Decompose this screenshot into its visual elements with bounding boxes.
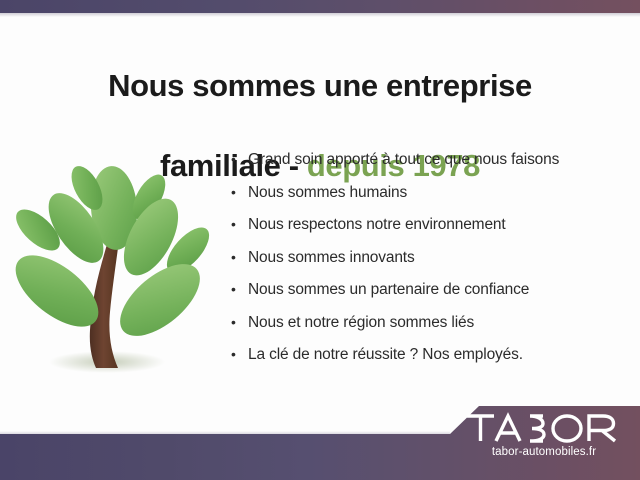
list-item: La clé de notre réussite ? Nos employés.	[228, 345, 628, 365]
top-accent-bar-shadow	[0, 13, 640, 17]
slide-canvas: Nous sommes une entreprise familiale - d…	[0, 0, 640, 480]
list-item: Grand soin apporté à tout ce que nous fa…	[228, 150, 628, 170]
letter-R	[589, 416, 615, 441]
list-item: Nous sommes un partenaire de confiance	[228, 280, 628, 300]
letter-O	[553, 416, 581, 441]
list-item: Nous et notre région sommes liés	[228, 313, 628, 333]
top-accent-bar	[0, 0, 640, 13]
letter-B-mirrored	[530, 416, 544, 441]
tabor-wordmark	[464, 412, 624, 444]
leaf-lower-right	[108, 251, 212, 349]
value-bullet-list: Grand soin apporté à tout ce que nous fa…	[228, 150, 628, 378]
list-item: Nous sommes innovants	[228, 248, 628, 268]
footer-banner-edge	[0, 431, 450, 434]
tree-logo	[10, 152, 220, 388]
list-item: Nous sommes humains	[228, 183, 628, 203]
brand-domain-text: tabor-automobiles.fr	[464, 446, 624, 458]
list-item: Nous respectons notre environnement	[228, 215, 628, 235]
brand-logo[interactable]: tabor-automobiles.fr	[464, 412, 624, 458]
footer-banner: tabor-automobiles.fr	[0, 400, 640, 480]
letter-A	[496, 416, 520, 441]
letter-T	[467, 416, 494, 441]
page-title-line1: Nous sommes une entreprise	[108, 68, 532, 103]
